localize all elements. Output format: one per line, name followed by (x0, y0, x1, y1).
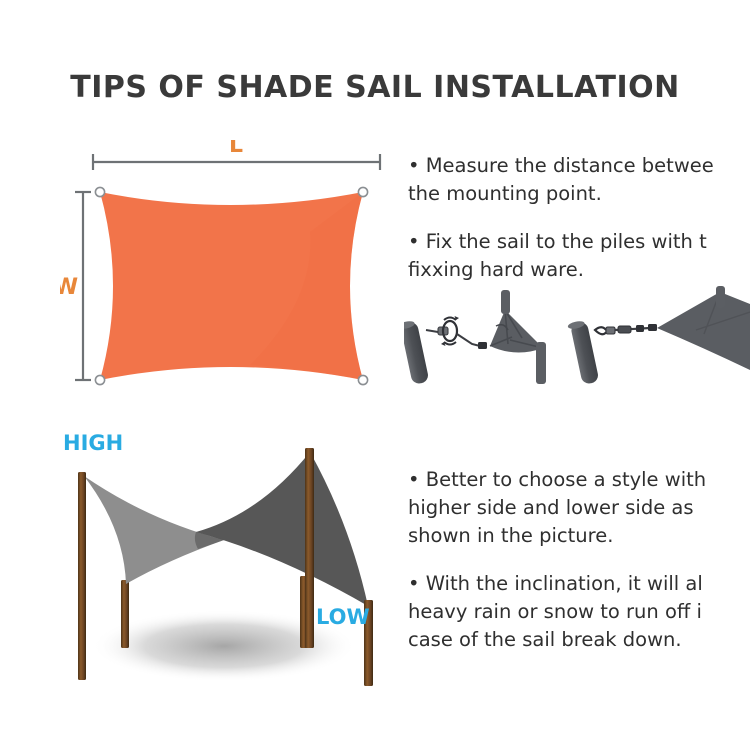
tip-line: • Better to choose a style with (408, 466, 750, 494)
page-title: TIPS OF SHADE SAIL INSTALLATION (0, 70, 750, 105)
tip-line: • Fix the sail to the piles with t (408, 228, 750, 256)
width-label: W (60, 275, 78, 300)
support-post-left-b (536, 342, 546, 384)
support-post-right (716, 286, 725, 308)
sail-corner-left (490, 310, 543, 353)
grommet-top-right (358, 187, 367, 196)
infographic-page: TIPS OF SHADE SAIL INSTALLATION (0, 0, 750, 750)
tip-line: higher side and lower side as (408, 494, 750, 522)
post-back-left (121, 580, 129, 648)
grommet-top-left (95, 187, 104, 196)
tip-choose-style: • Better to choose a style with higher s… (408, 466, 750, 550)
tip-fix-sail: • Fix the sail to the piles with t fixxi… (408, 228, 750, 284)
hardware-assembly-right (567, 286, 750, 385)
mounting-pole-left (404, 320, 429, 385)
tip-line: • Measure the distance betwee (408, 152, 750, 180)
post-high-left (78, 472, 86, 680)
tip-line: heavy rain or snow to run off i (408, 598, 750, 626)
post-high-right (305, 448, 314, 648)
shackle-left (478, 342, 487, 349)
length-label: L (229, 140, 243, 158)
tip-measure-distance: • Measure the distance betwee the mounti… (408, 152, 750, 208)
bottom-tips-text: • Better to choose a style with higher s… (408, 466, 750, 674)
tip-line: case of the sail break down. (408, 626, 750, 654)
canopy-high-low-figure: HIGH LOW (28, 428, 410, 720)
tip-line: • With the inclination, it will al (408, 570, 750, 598)
tip-inclination: • With the inclination, it will al heavy… (408, 570, 750, 654)
snap-hook-right (595, 327, 615, 334)
tip-line: fixxing hard ware. (408, 256, 750, 284)
turnbuckle-right (615, 324, 657, 333)
high-label: HIGH (63, 431, 123, 455)
turnbuckle-left (438, 316, 459, 346)
grommet-bottom-left (95, 375, 104, 384)
sail-dark-gray (196, 452, 368, 606)
low-label: LOW (316, 605, 370, 629)
rectangular-sail-figure: L W (60, 140, 400, 402)
support-post-left-a (501, 290, 510, 314)
fixing-hardware-figure (404, 282, 750, 390)
grommet-bottom-right (358, 375, 367, 384)
tip-line: shown in the picture. (408, 522, 750, 550)
tip-line: the mounting point. (408, 180, 750, 208)
sail-corner-right (657, 292, 750, 370)
hardware-assembly-left (404, 290, 546, 385)
